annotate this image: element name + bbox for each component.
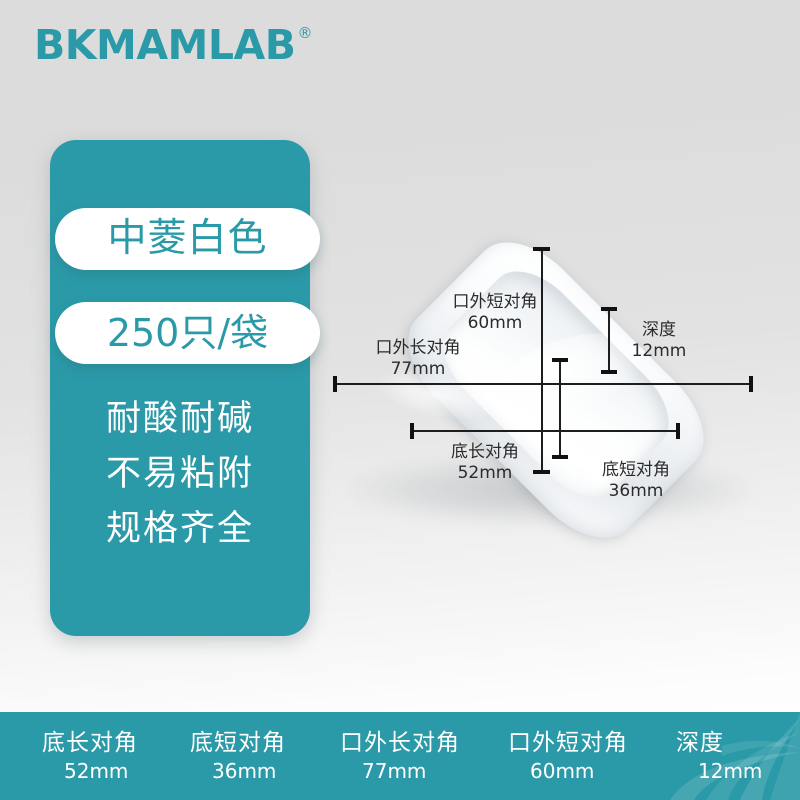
dimension-cap-outer-long-right	[749, 376, 753, 392]
dimension-label-base-short-name: 底短对角	[602, 460, 670, 480]
dimension-label-outer-long: 口外长对角 77mm	[353, 338, 483, 380]
dimension-cap-base-long-right	[676, 423, 680, 439]
dimension-label-depth-value: 12mm	[621, 341, 697, 362]
dimension-label-outer-long-value: 77mm	[353, 359, 483, 380]
dimension-label-base-short: 底短对角 36mm	[571, 460, 701, 502]
dimension-label-outer-short: 口外短对角 60mm	[430, 292, 560, 334]
spec-column-outer-short-name: 口外短对角	[508, 728, 628, 758]
dimension-cap-depth-bottom	[601, 370, 617, 374]
spec-column-base-long-name: 底长对角	[42, 728, 138, 758]
dimension-cap-depth-top	[601, 307, 617, 311]
spec-column-outer-long: 口外长对角 77mm	[340, 728, 508, 785]
feature-panel: 中菱白色 250只/袋 耐酸耐碱 不易粘附 规格齐全	[50, 140, 310, 636]
spec-column-base-short-value: 36mm	[190, 758, 276, 785]
dimension-cap-outer-long-left	[333, 376, 337, 392]
dimension-label-outer-long-name: 口外长对角	[376, 338, 461, 358]
spec-column-base-short: 底短对角 36mm	[190, 728, 340, 785]
registered-trademark-icon: ®	[297, 26, 312, 41]
dimension-cap-outer-short-top	[533, 247, 550, 251]
spec-column-base-long-value: 52mm	[42, 758, 128, 785]
dimension-label-base-long-value: 52mm	[420, 463, 550, 484]
spec-column-outer-long-value: 77mm	[340, 758, 426, 785]
dimension-label-base-long-name: 底长对角	[451, 442, 519, 462]
dimension-cap-base-short-top	[552, 358, 568, 362]
feature-item-3: 规格齐全	[106, 508, 254, 550]
spec-column-outer-long-name: 口外长对角	[340, 728, 460, 758]
dimension-line-outer-short	[541, 247, 543, 474]
spec-column-depth-name: 深度	[676, 728, 724, 758]
dimension-label-outer-short-name: 口外短对角	[453, 292, 538, 312]
spec-column-base-long: 底长对角 52mm	[42, 728, 190, 785]
dimension-line-base-short	[559, 358, 561, 458]
spec-column-outer-short-value: 60mm	[508, 758, 594, 785]
pill-product-variant-label: 中菱白色	[107, 217, 267, 261]
specification-columns: 底长对角 52mm 底短对角 36mm 口外长对角 77mm 口外短对角 60m…	[0, 728, 800, 785]
brand-logo: BKMAMLAB ®	[34, 25, 312, 66]
feature-list: 耐酸耐碱 不易粘附 规格齐全	[50, 398, 310, 550]
specification-bar: 底长对角 52mm 底短对角 36mm 口外长对角 77mm 口外短对角 60m…	[0, 712, 800, 800]
feature-item-2: 不易粘附	[106, 453, 254, 495]
dimension-label-depth-name: 深度	[642, 320, 676, 340]
pill-package-quantity: 250只/袋	[55, 302, 320, 364]
dimension-line-base-long	[410, 430, 680, 432]
dimension-cap-base-short-bottom	[552, 455, 568, 459]
spec-column-depth: 深度 12mm	[676, 728, 796, 785]
dimension-label-depth: 深度 12mm	[621, 320, 697, 362]
dimension-label-outer-short-value: 60mm	[430, 313, 560, 334]
dimension-cap-base-long-left	[410, 423, 414, 439]
spec-column-depth-value: 12mm	[676, 758, 762, 785]
product-detail-image: BKMAMLAB ® 中菱白色 250只/袋 耐酸耐碱 不易粘附 规格齐全	[0, 0, 800, 800]
product-photo: 口外短对角 60mm 口外长对角 77mm 深度 12mm 底长对角 52mm …	[320, 230, 790, 630]
brand-logo-text: BKMAMLAB	[34, 25, 295, 66]
pill-product-variant: 中菱白色	[55, 208, 320, 270]
spec-column-base-short-name: 底短对角	[190, 728, 286, 758]
dimension-label-base-long: 底长对角 52mm	[420, 442, 550, 484]
dimension-label-base-short-value: 36mm	[571, 481, 701, 502]
dimension-line-outer-long	[333, 383, 753, 385]
spec-column-outer-short: 口外短对角 60mm	[508, 728, 676, 785]
dimension-line-depth	[608, 307, 610, 372]
pill-package-quantity-label: 250只/袋	[107, 311, 268, 355]
feature-item-1: 耐酸耐碱	[106, 398, 254, 440]
